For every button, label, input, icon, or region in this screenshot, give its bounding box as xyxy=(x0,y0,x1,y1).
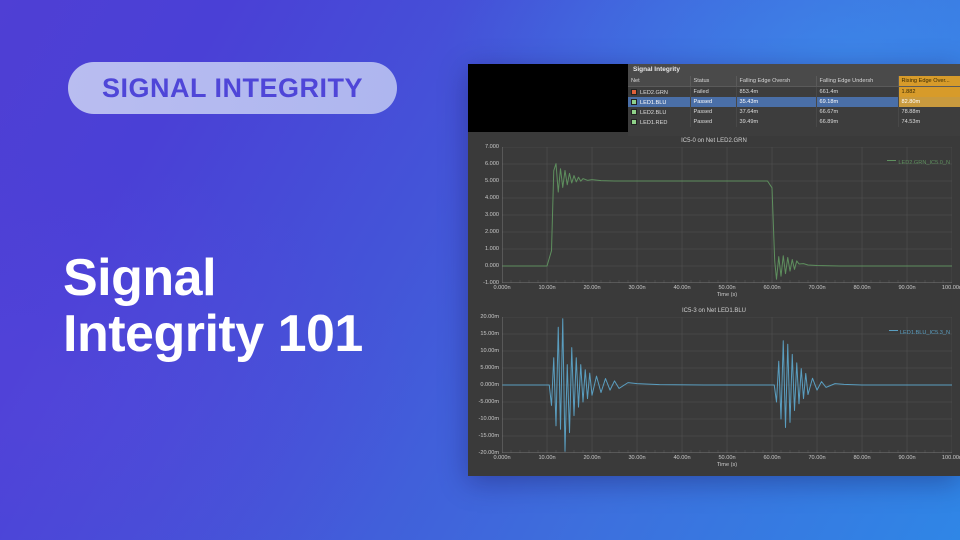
y-tick-label: 0.000m xyxy=(480,382,499,388)
x-tick-label: 90.00n xyxy=(898,285,915,291)
page-title: Signal Integrity 101 xyxy=(63,251,363,362)
cell-net: LED1.BLU xyxy=(628,97,690,107)
table-row[interactable]: LED1.REDPassed39.49m66.89m74.53m123.0m xyxy=(628,117,960,127)
x-tick-label: 30.00n xyxy=(628,455,645,461)
cell-rising-overshoot: 82.80m xyxy=(898,97,960,107)
net-color-swatch-icon xyxy=(631,109,637,115)
y-tick-label: -15.00m xyxy=(478,433,499,439)
y-tick-label: 0.000 xyxy=(485,263,499,269)
cell-falling-overshoot: 35.43m xyxy=(736,97,816,107)
x-axis-title-bottom: Time (s) xyxy=(717,462,737,468)
cell-rising-overshoot: 74.53m xyxy=(898,117,960,127)
net-color-swatch-icon xyxy=(631,119,637,125)
x-tick-label: 70.00n xyxy=(808,455,825,461)
eda-screenshot[interactable]: Signal Integrity NetStatusFalling Edge O… xyxy=(468,64,960,476)
cell-rising-overshoot: 78.88m xyxy=(898,107,960,117)
waveform-chart-top[interactable]: IC5-0 on Net LED2.GRN LED2.GRN_IC5.0_N T… xyxy=(468,136,960,306)
y-tick-label: 6.000 xyxy=(485,161,499,167)
table-header-row[interactable]: NetStatusFalling Edge OvershFalling Edge… xyxy=(628,76,960,87)
title-line-2: Integrity 101 xyxy=(63,307,363,363)
cell-falling-overshoot: 39.49m xyxy=(736,117,816,127)
x-tick-label: 70.00n xyxy=(808,285,825,291)
signal-integrity-table-panel[interactable]: Signal Integrity NetStatusFalling Edge O… xyxy=(628,64,960,136)
top-strip: Signal Integrity NetStatusFalling Edge O… xyxy=(468,64,960,136)
y-tick-label: 7.000 xyxy=(485,144,499,150)
cell-falling-undershoot: 66.67m xyxy=(816,107,898,117)
legend-swatch-bottom xyxy=(889,330,898,331)
x-tick-label: 0.000n xyxy=(493,285,510,291)
cell-falling-overshoot: 853.4m xyxy=(736,87,816,98)
cell-status: Failed xyxy=(690,87,736,98)
y-tick-label: 4.000 xyxy=(485,195,499,201)
table-panel-title: Signal Integrity xyxy=(628,64,960,76)
chart-title-bottom: IC5-3 on Net LED1.BLU xyxy=(468,306,960,317)
legend-label-bottom: LED1.BLU_IC5.3_N xyxy=(900,330,950,336)
x-tick-label: 90.00n xyxy=(898,455,915,461)
x-tick-label: 20.00n xyxy=(583,455,600,461)
title-line-1: Signal xyxy=(63,249,216,307)
y-tick-label: -5.000m xyxy=(478,399,499,405)
slide-text-panel: SIGNAL INTEGRITY Signal Integrity 101 xyxy=(0,0,440,540)
cell-falling-overshoot: 37.64m xyxy=(736,107,816,117)
x-tick-label: 40.00n xyxy=(673,285,690,291)
y-tick-label: -10.00m xyxy=(478,416,499,422)
x-tick-label: 20.00n xyxy=(583,285,600,291)
x-tick-label: 80.00n xyxy=(853,455,870,461)
y-tick-label: 10.00m xyxy=(480,348,499,354)
y-tick-label: 3.000 xyxy=(485,212,499,218)
column-header-1[interactable]: Status xyxy=(690,76,736,87)
waveform-chart-bottom[interactable]: IC5-3 on Net LED1.BLU LED1.BLU_IC5.3_N T… xyxy=(468,306,960,476)
chart-title-top: IC5-0 on Net LED2.GRN xyxy=(468,136,960,147)
table-body[interactable]: LED2.GRNFailed853.4m661.4m1.8821.409LED1… xyxy=(628,87,960,128)
cell-falling-undershoot: 69.18m xyxy=(816,97,898,107)
table-row[interactable]: LED2.BLUPassed37.64m66.67m78.88m129.0m xyxy=(628,107,960,117)
column-header-3[interactable]: Falling Edge Undersh xyxy=(816,76,898,87)
x-tick-label: 50.00n xyxy=(718,285,735,291)
plot-area-bottom[interactable]: LED1.BLU_IC5.3_N Time (s) 20.00m15.00m10… xyxy=(502,317,952,453)
legend-swatch-top xyxy=(887,160,896,161)
y-tick-label: 1.000 xyxy=(485,246,499,252)
cell-net: LED2.GRN xyxy=(628,87,690,98)
column-header-2[interactable]: Falling Edge Oversh xyxy=(736,76,816,87)
cell-status: Passed xyxy=(690,117,736,127)
cell-rising-overshoot: 1.882 xyxy=(898,87,960,98)
x-tick-label: 40.00n xyxy=(673,455,690,461)
x-tick-label: 100.00n xyxy=(942,285,960,291)
column-header-4[interactable]: Rising Edge Over... xyxy=(898,76,960,87)
cell-falling-undershoot: 66.89m xyxy=(816,117,898,127)
eyebrow-pill: SIGNAL INTEGRITY xyxy=(68,62,397,114)
cell-status: Passed xyxy=(690,97,736,107)
cell-falling-undershoot: 661.4m xyxy=(816,87,898,98)
y-tick-label: 5.000m xyxy=(480,365,499,371)
signal-integrity-table[interactable]: NetStatusFalling Edge OvershFalling Edge… xyxy=(628,76,960,127)
x-tick-label: 10.00n xyxy=(538,455,555,461)
table-row[interactable]: LED2.GRNFailed853.4m661.4m1.8821.409 xyxy=(628,87,960,98)
layout-preview-pane[interactable] xyxy=(468,64,628,132)
net-color-swatch-icon xyxy=(631,99,637,105)
legend-bottom: LED1.BLU_IC5.3_N xyxy=(889,330,950,336)
x-tick-label: 80.00n xyxy=(853,285,870,291)
y-tick-label: 15.00m xyxy=(480,331,499,337)
net-color-swatch-icon xyxy=(631,89,637,95)
legend-label-top: LED2.GRN_IC5.0_N xyxy=(898,160,950,166)
x-tick-label: 0.000n xyxy=(493,455,510,461)
table-row[interactable]: LED1.BLUPassed35.43m69.18m82.80m129.4m xyxy=(628,97,960,107)
x-tick-label: 10.00n xyxy=(538,285,555,291)
x-axis-title-top: Time (s) xyxy=(717,292,737,298)
y-tick-label: 20.00m xyxy=(480,314,499,320)
x-tick-label: 100.00n xyxy=(942,455,960,461)
cell-status: Passed xyxy=(690,107,736,117)
x-tick-label: 60.00n xyxy=(763,285,780,291)
x-tick-label: 50.00n xyxy=(718,455,735,461)
x-tick-label: 30.00n xyxy=(628,285,645,291)
column-header-0[interactable]: Net xyxy=(628,76,690,87)
x-tick-label: 60.00n xyxy=(763,455,780,461)
y-tick-label: 5.000 xyxy=(485,178,499,184)
plot-area-top[interactable]: LED2.GRN_IC5.0_N Time (s) 7.0006.0005.00… xyxy=(502,147,952,283)
cell-net: LED1.RED xyxy=(628,117,690,127)
cell-net: LED2.BLU xyxy=(628,107,690,117)
y-tick-label: 2.000 xyxy=(485,229,499,235)
legend-top: LED2.GRN_IC5.0_N xyxy=(887,160,950,166)
